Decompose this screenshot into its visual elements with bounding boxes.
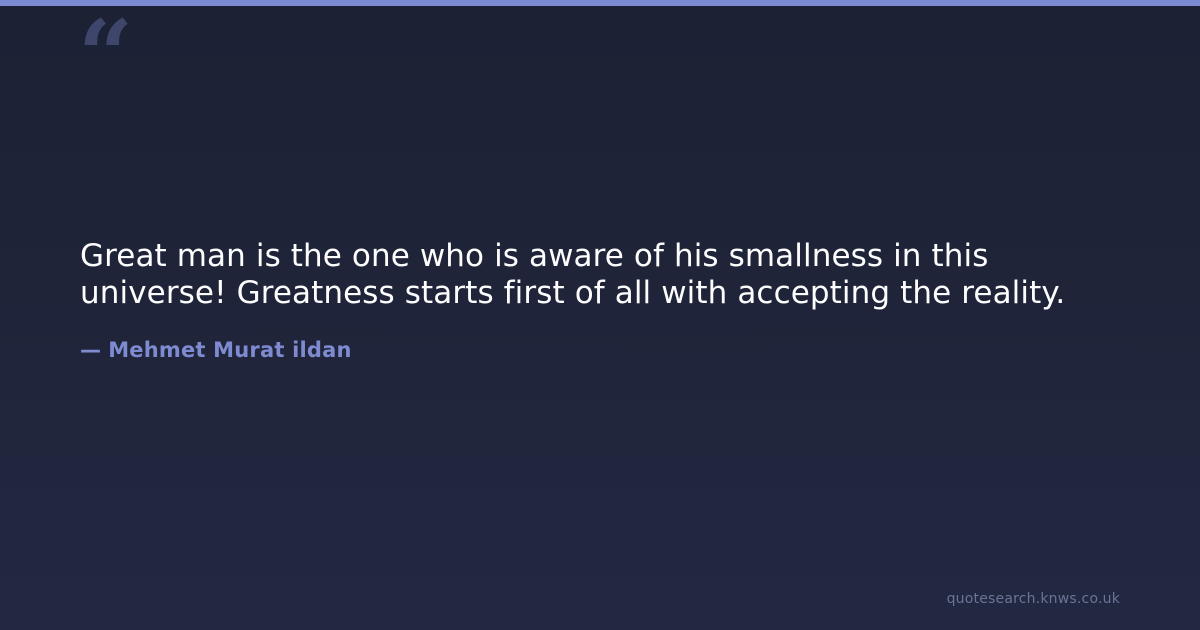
- quote-author: —Mehmet Murat ildan: [80, 312, 1110, 363]
- top-accent-bar: [0, 0, 1200, 6]
- quote-content: Great man is the one who is aware of his…: [80, 238, 1110, 363]
- quote-text: Great man is the one who is aware of his…: [80, 238, 1095, 312]
- author-dash: —: [80, 338, 108, 362]
- site-watermark: quotesearch.knws.co.uk: [947, 590, 1120, 608]
- quote-card: “ Great man is the one who is aware of h…: [0, 0, 1200, 630]
- quotation-mark-icon: “: [78, 8, 131, 104]
- author-name: Mehmet Murat ildan: [108, 338, 351, 362]
